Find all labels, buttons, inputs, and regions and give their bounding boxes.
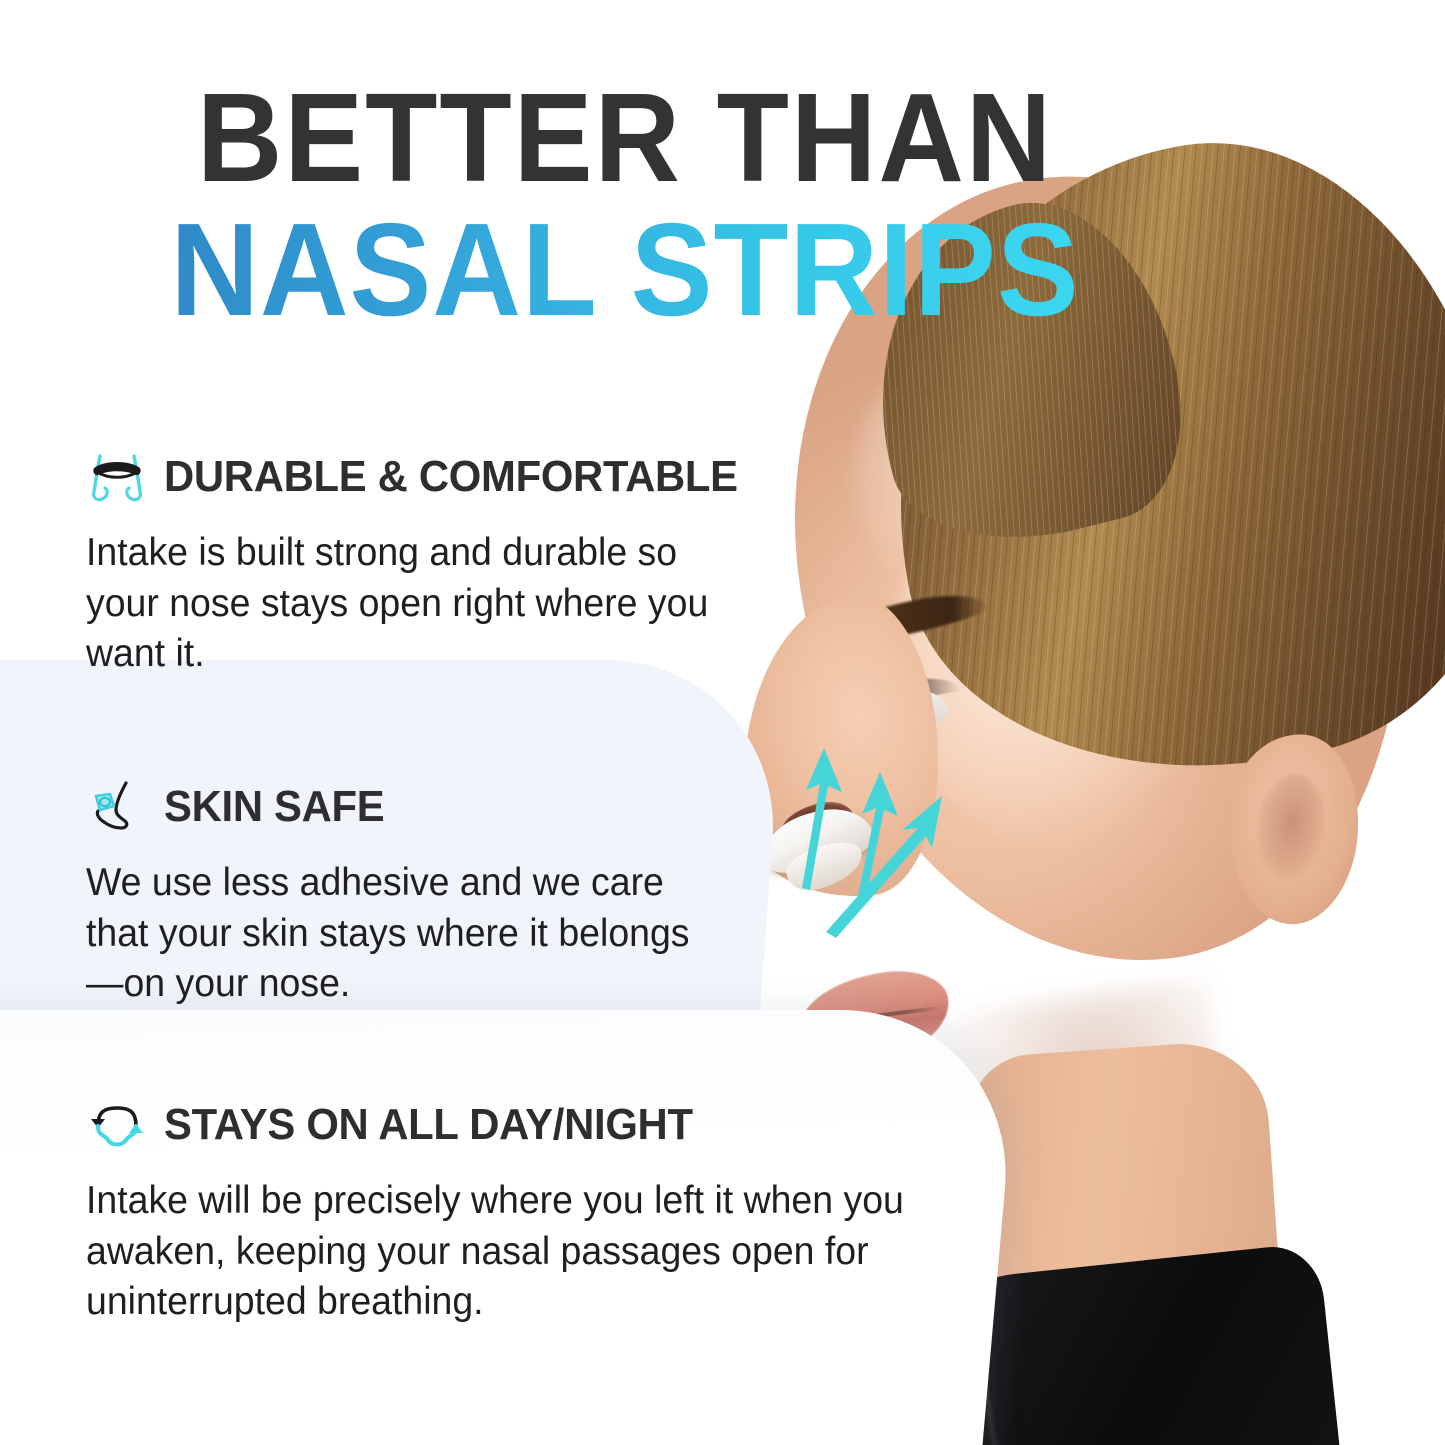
feature-body: Intake is built strong and durable so yo… (86, 528, 758, 680)
headline-line-1: BETTER THAN (38, 78, 1213, 199)
nose-front-airflow-icon (86, 448, 148, 506)
promo-image: BETTER THAN NASAL STRIPS DURABLE & COMFO… (0, 0, 1445, 1445)
feature-durable-comfortable: DURABLE & COMFORTABLE Intake is built st… (86, 448, 786, 680)
headline-line-2: NASAL STRIPS (44, 205, 1207, 334)
feature-skin-safe: SKIN SAFE We use less adhesive and we ca… (86, 778, 726, 1010)
feature-heading-row: STAYS ON ALL DAY/NIGHT (86, 1096, 946, 1154)
feature-body: We use less adhesive and we care that yo… (86, 858, 700, 1010)
content-layer: BETTER THAN NASAL STRIPS DURABLE & COMFO… (0, 0, 1445, 1445)
headline: BETTER THAN NASAL STRIPS (0, 78, 1250, 334)
feature-heading-row: SKIN SAFE (86, 778, 726, 836)
feature-title: STAYS ON ALL DAY/NIGHT (164, 1100, 693, 1150)
feature-title: SKIN SAFE (164, 782, 384, 832)
feature-title: DURABLE & COMFORTABLE (164, 452, 738, 502)
strip-cycle-icon (86, 1096, 148, 1154)
feature-body: Intake will be precisely where you left … (86, 1176, 912, 1328)
feature-stays-on-all-day-night: STAYS ON ALL DAY/NIGHT Intake will be pr… (86, 1096, 946, 1328)
nose-profile-patch-icon (86, 778, 148, 836)
feature-heading-row: DURABLE & COMFORTABLE (86, 448, 786, 506)
